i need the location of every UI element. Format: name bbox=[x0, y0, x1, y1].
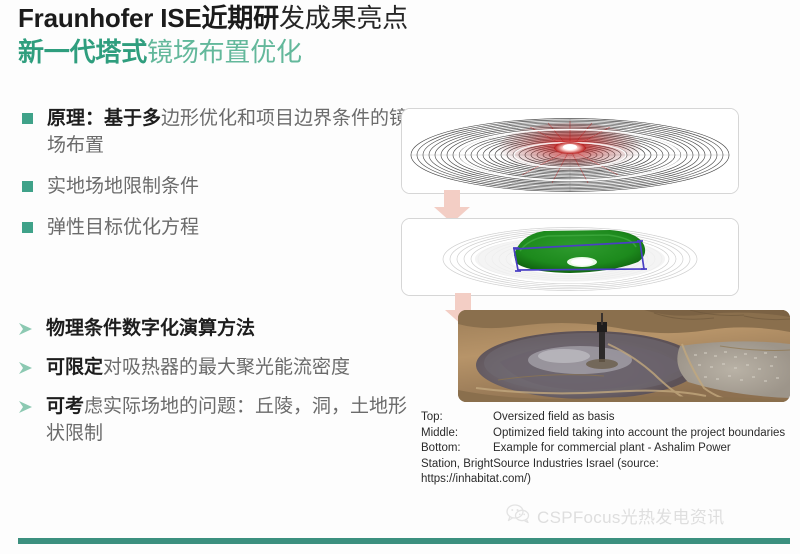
caption-key-middle: Middle: bbox=[421, 426, 493, 442]
oversized-field-diagram bbox=[402, 109, 738, 193]
caption-value-middle: Optimized field taking into account the … bbox=[493, 426, 791, 442]
square-bullet-icon bbox=[22, 113, 33, 124]
list-item: 实地场地限制条件 bbox=[22, 173, 412, 200]
caption-row-middle: Middle: Optimized field taking into acco… bbox=[421, 426, 791, 442]
arrow-bullet-icon bbox=[18, 361, 34, 377]
caption-row-bottom: Bottom: Example for commercial plant - A… bbox=[421, 441, 791, 457]
caption-bottom-continued: Station, BrightSource Industries Israel … bbox=[421, 457, 791, 473]
square-bullet-icon bbox=[22, 181, 33, 192]
wechat-icon bbox=[506, 504, 530, 528]
list-item: 可考虑实际场地的问题：丘陵，洞，土地形状限制 bbox=[18, 393, 413, 447]
list-item-text: 可限定对吸热器的最大聚光能流密度 bbox=[46, 354, 350, 381]
caption-row-top: Top: Oversized field as basis bbox=[421, 410, 791, 426]
watermark-text: CSPFocus光热发电资讯 bbox=[537, 503, 724, 528]
list-item-text: 物理条件数字化演算方法 bbox=[46, 315, 255, 342]
figure-panel-top bbox=[401, 108, 739, 194]
page-subtitle: 新一代塔式镜场布置优化 bbox=[18, 36, 302, 68]
list-item: 弹性目标优化方程 bbox=[22, 214, 412, 241]
page-title-bold: Fraunhofer ISE近期研 bbox=[18, 3, 279, 33]
list-item-strong: 可限定 bbox=[46, 357, 103, 378]
list-item-strong: 可考 bbox=[46, 396, 84, 417]
primary-bullet-list: 原理：基于多边形优化和项目边界条件的镜场布置 实地场地限制条件 弹性目标优化方程 bbox=[22, 105, 412, 255]
list-item: 原理：基于多边形优化和项目边界条件的镜场布置 bbox=[22, 105, 412, 159]
secondary-bullet-list: 物理条件数字化演算方法 可限定对吸热器的最大聚光能流密度 可考虑实际场地的问题：… bbox=[18, 315, 413, 459]
figure-panel-middle bbox=[401, 218, 739, 296]
page-title-regular: 发成果亮点 bbox=[279, 3, 408, 33]
caption-value-bottom: Example for commercial plant - Ashalim P… bbox=[493, 441, 791, 457]
square-bullet-icon bbox=[22, 222, 33, 233]
arrow-bullet-icon bbox=[18, 400, 34, 416]
ashalim-plant-photo bbox=[458, 310, 790, 402]
footer-accent-bar bbox=[18, 538, 790, 544]
list-item: 物理条件数字化演算方法 bbox=[18, 315, 413, 342]
page-subtitle-regular: 镜场布置优化 bbox=[147, 37, 302, 67]
list-item-strong: 物理条件数字化演算方法 bbox=[46, 318, 255, 339]
list-item: 可限定对吸热器的最大聚光能流密度 bbox=[18, 354, 413, 381]
caption-source-url: https://inhabitat.com/) bbox=[421, 472, 791, 488]
slide-canvas: Fraunhofer ISE近期研发成果亮点 新一代塔式镜场布置优化 原理：基于… bbox=[0, 0, 800, 554]
list-item-strong: 原理：基于多 bbox=[47, 108, 161, 129]
caption-key-bottom: Bottom: bbox=[421, 441, 493, 457]
list-item-text: 弹性目标优化方程 bbox=[47, 214, 199, 241]
watermark: CSPFocus光热发电资讯 bbox=[506, 503, 724, 528]
list-item-text: 可考虑实际场地的问题：丘陵，洞，土地形状限制 bbox=[46, 393, 413, 447]
arrow-bullet-icon bbox=[18, 322, 34, 338]
figure-caption: Top: Oversized field as basis Middle: Op… bbox=[421, 410, 791, 488]
list-item-text: 实地场地限制条件 bbox=[47, 173, 199, 200]
list-item-text: 原理：基于多边形优化和项目边界条件的镜场布置 bbox=[47, 105, 412, 159]
page-subtitle-bold: 新一代塔式 bbox=[18, 37, 147, 67]
caption-key-top: Top: bbox=[421, 410, 493, 426]
caption-value-top: Oversized field as basis bbox=[493, 410, 791, 426]
page-title: Fraunhofer ISE近期研发成果亮点 bbox=[18, 2, 408, 34]
list-item-rest: 虑实际场地的问题：丘陵，洞，土地形状限制 bbox=[46, 396, 407, 444]
optimized-field-diagram bbox=[402, 219, 738, 295]
list-item-rest: 对吸热器的最大聚光能流密度 bbox=[103, 357, 350, 378]
